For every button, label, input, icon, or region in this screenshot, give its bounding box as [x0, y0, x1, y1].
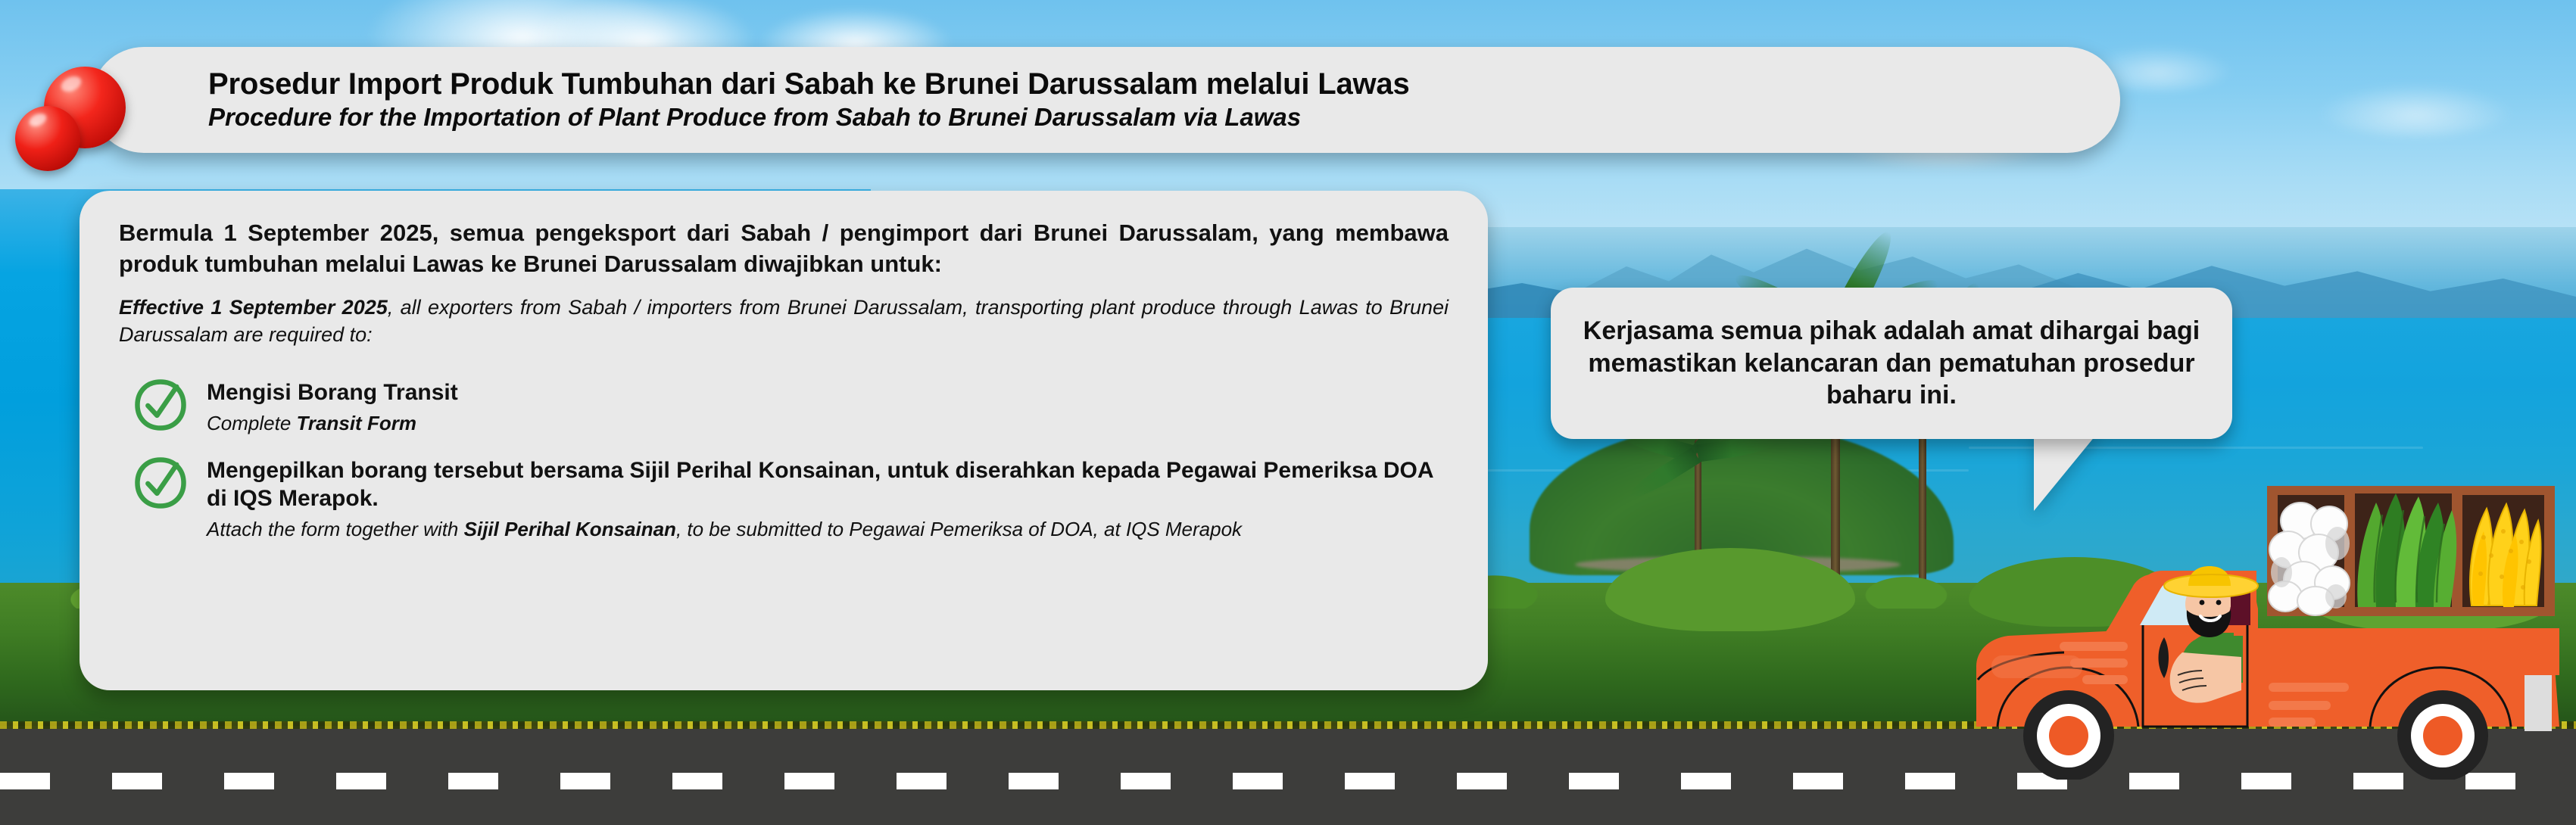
speech-bubble-tail [2034, 428, 2102, 511]
cargo-crate [2267, 486, 2555, 616]
list-item: Mengepilkan borang tersebut bersama Siji… [119, 453, 1449, 543]
list-item: Mengisi Borang Transit Complete Transit … [119, 375, 1449, 436]
pickup-truck-illustration [1961, 477, 2576, 780]
check-circle-icon [133, 377, 189, 433]
page-title-ms: Prosedur Import Produk Tumbuhan dari Sab… [208, 67, 2075, 101]
lede-en-bold: Effective 1 September 2025 [119, 296, 388, 319]
push-pin-icon [15, 106, 80, 171]
step-label-en: Complete Transit Form [207, 411, 458, 436]
lede-ms-bold: Bermula 1 September 2025, [119, 219, 438, 246]
step-label-en: Attach the form together with Sijil Peri… [207, 517, 1449, 542]
title-bubble: Prosedur Import Produk Tumbuhan dari Sab… [91, 47, 2120, 153]
page-title-en: Procedure for the Importation of Plant P… [208, 103, 2075, 132]
procedure-card: Bermula 1 September 2025, semua pengeksp… [80, 191, 1488, 690]
speech-bubble: Kerjasama semua pihak adalah amat diharg… [1551, 288, 2232, 439]
step-en-bold: Sijil Perihal Konsainan [464, 518, 676, 540]
check-circle-icon [133, 455, 189, 511]
step-en-bold: Transit Form [297, 412, 416, 434]
step-en-lead: Attach the form together with [207, 518, 464, 540]
list-item-body: Mengisi Borang Transit Complete Transit … [207, 375, 458, 436]
step-en-tail: , to be submitted to Pegawai Pemeriksa o… [676, 518, 1242, 540]
step-label-ms: Mengepilkan borang tersebut bersama Siji… [207, 456, 1449, 514]
steps-list: Mengisi Borang Transit Complete Transit … [119, 375, 1449, 542]
lede-paragraph-en: Effective 1 September 2025, all exporter… [119, 294, 1449, 348]
lede-paragraph-ms: Bermula 1 September 2025, semua pengeksp… [119, 218, 1449, 279]
step-en-lead: Complete [207, 412, 297, 434]
cloud [2317, 83, 2514, 136]
list-item-body: Mengepilkan borang tersebut bersama Siji… [207, 453, 1449, 543]
step-label-ms: Mengisi Borang Transit [207, 378, 458, 407]
speech-bubble-text: Kerjasama semua pihak adalah amat diharg… [1576, 315, 2206, 412]
